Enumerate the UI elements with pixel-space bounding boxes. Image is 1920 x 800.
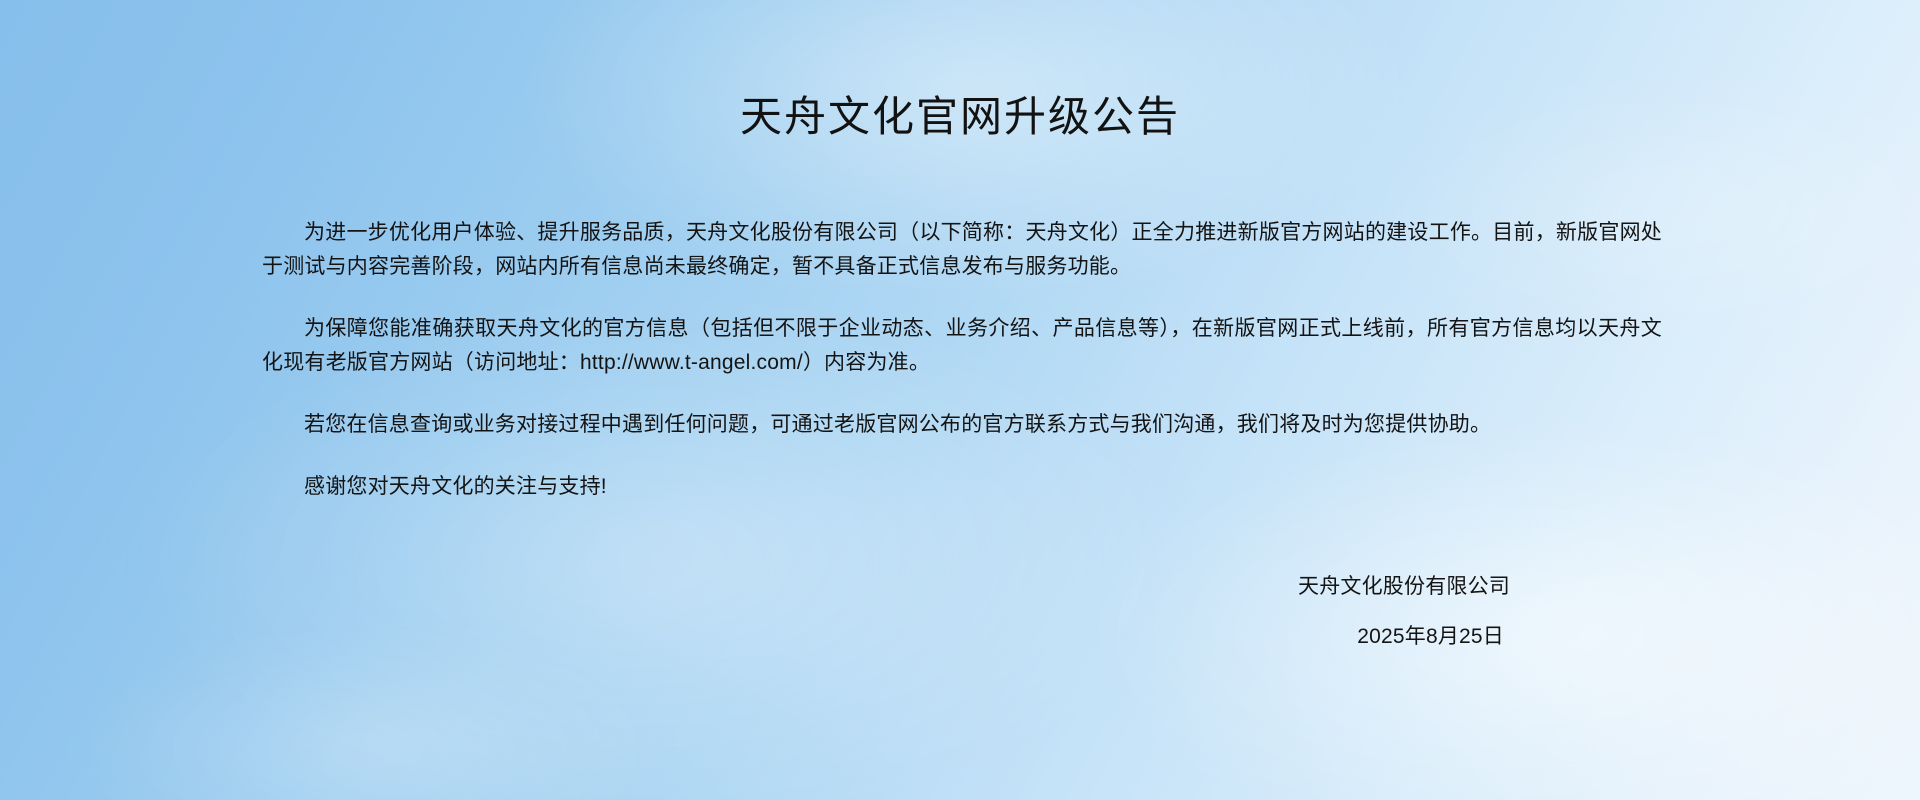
notice-paragraph-3: 若您在信息查询或业务对接过程中遇到任何问题，可通过老版官网公布的官方联系方式与我… (262, 408, 1662, 442)
page-title: 天舟文化官网升级公告 (240, 92, 1680, 142)
notice-paragraph-4: 感谢您对天舟文化的关注与支持! (262, 470, 1662, 504)
signature-block: 天舟文化股份有限公司 2025年8月25日 (240, 570, 1680, 652)
notice-page: 天舟文化官网升级公告 为进一步优化用户体验、提升服务品质，天舟文化股份有限公司（… (0, 0, 1920, 800)
notice-paragraph-1: 为进一步优化用户体验、提升服务品质，天舟文化股份有限公司（以下简称：天舟文化）正… (262, 216, 1662, 284)
signature-date: 2025年8月25日 (240, 622, 1510, 652)
notice-content: 天舟文化官网升级公告 为进一步优化用户体验、提升服务品质，天舟文化股份有限公司（… (240, 0, 1680, 652)
notice-body: 为进一步优化用户体验、提升服务品质，天舟文化股份有限公司（以下简称：天舟文化）正… (240, 216, 1680, 504)
signature-company: 天舟文化股份有限公司 (240, 570, 1510, 604)
notice-paragraph-2: 为保障您能准确获取天舟文化的官方信息（包括但不限于企业动态、业务介绍、产品信息等… (262, 312, 1662, 380)
